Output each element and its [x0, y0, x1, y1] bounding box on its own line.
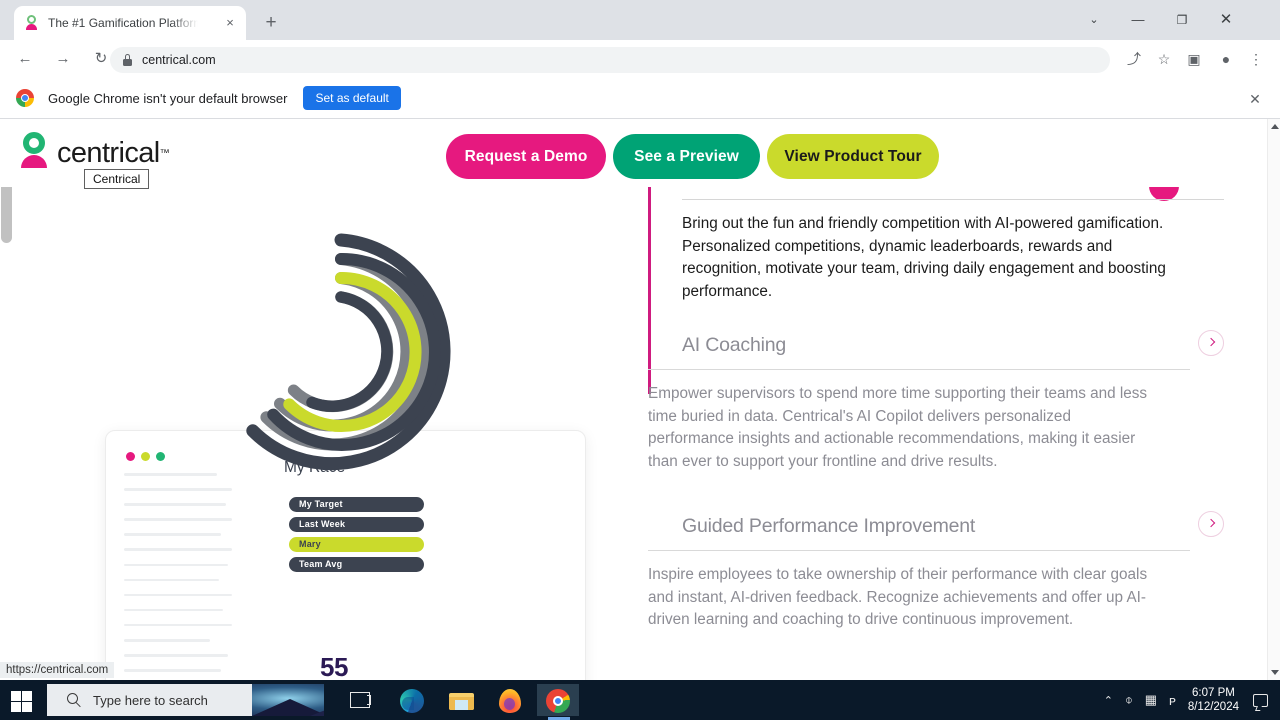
legend-item-mary: Mary: [289, 537, 424, 552]
infobar-close-icon[interactable]: ✕: [1246, 90, 1264, 108]
taskbar-search-input[interactable]: Type here to search: [47, 684, 324, 716]
accordion-text: Inspire employees to take ownership of t…: [648, 564, 1160, 632]
system-tray: ⌃ ⌽ ▦ ᴘ 6:07 PM 8/12/2024: [1100, 680, 1280, 720]
back-icon[interactable]: ←: [10, 44, 40, 74]
request-a-demo-button[interactable]: Request a Demo: [446, 134, 606, 179]
active-app-indicator: [548, 717, 570, 720]
windows-start-icon[interactable]: [10, 690, 34, 714]
window-minimize-icon[interactable]: —: [1116, 4, 1160, 36]
file-explorer-icon[interactable]: [441, 684, 481, 716]
window-close-icon[interactable]: ✕: [1204, 4, 1248, 36]
profile-avatar-icon[interactable]: ●: [1216, 49, 1236, 69]
search-icon: [67, 693, 82, 708]
clock-date: 8/12/2024: [1188, 701, 1239, 713]
infobar-message: Google Chrome isn't your default browser: [48, 91, 287, 106]
centrical-favicon-icon: [24, 15, 40, 31]
view-product-tour-button[interactable]: View Product Tour: [767, 134, 939, 179]
browser-toolbar: ← → ↻ centrical.com ⤴ ☆ ▣ ● ⋮: [0, 40, 1280, 78]
active-panel-indicator: [648, 187, 651, 394]
accordion-item-ai-coaching[interactable]: AI Coaching: [682, 334, 1224, 357]
site-header: centrical ™ Request a Demo See a Preview…: [0, 119, 1267, 187]
centrical-logo-mark-icon: [18, 131, 54, 175]
radial-progress-rings: [216, 227, 466, 477]
firefox-icon[interactable]: [490, 684, 530, 716]
logo-trademark: ™: [160, 148, 170, 159]
legend-item-last-week: Last Week: [289, 517, 424, 532]
notification-icon[interactable]: [1253, 694, 1268, 707]
see-a-preview-button[interactable]: See a Preview: [613, 134, 760, 179]
legend-item-team-avg: Team Avg: [289, 557, 424, 572]
window-dot-lime-icon: [141, 452, 150, 461]
accordion-heading: Guided Performance Improvement: [682, 515, 975, 537]
window-dot-pink-icon: [126, 452, 135, 461]
windows-taskbar: Type here to search ⌃ ⌽ ▦ ᴘ 6:07 PM 8/12…: [0, 680, 1280, 720]
task-view-icon[interactable]: [340, 684, 380, 716]
window-dot-green-icon: [156, 452, 165, 461]
page-scrollbar[interactable]: [1267, 119, 1280, 680]
tab-title: The #1 Gamification Platform fo: [48, 16, 198, 30]
accordion-item-guided-performance-improvement[interactable]: Guided Performance Improvement: [682, 515, 1224, 538]
accordion-heading: AI Coaching: [682, 334, 786, 356]
divider: [682, 199, 1224, 200]
browser-tab[interactable]: The #1 Gamification Platform fo ×: [14, 6, 246, 40]
accordion-text: Empower supervisors to spend more time s…: [648, 383, 1160, 473]
clock-time: 6:07 PM: [1192, 687, 1235, 699]
tray-chevron-up-icon[interactable]: ⌃: [1104, 694, 1113, 707]
default-browser-infobar: Google Chrome isn't your default browser…: [0, 78, 1280, 119]
search-placeholder: Type here to search: [93, 693, 208, 708]
divider: [648, 550, 1190, 551]
link-status-bubble: https://centrical.com: [0, 662, 114, 678]
points-value: 55: [320, 652, 348, 680]
url-text: centrical.com: [142, 53, 216, 67]
scroll-up-arrow-icon[interactable]: [1271, 124, 1279, 129]
chrome-menu-icon[interactable]: ⋮: [1246, 49, 1266, 69]
product-illustration: My Race My Target Last Week Mary Team Av…: [0, 187, 648, 680]
window-expand-icon[interactable]: ⌄: [1072, 4, 1116, 36]
divider: [648, 369, 1190, 370]
race-legend: My Target Last Week Mary Team Avg: [289, 497, 424, 577]
chevron-right-icon[interactable]: [1198, 511, 1224, 537]
legend-item-my-target: My Target: [289, 497, 424, 512]
edge-icon[interactable]: [392, 684, 432, 716]
taskbar-clock[interactable]: 6:07 PM 8/12/2024: [1188, 686, 1239, 714]
scroll-down-arrow-icon[interactable]: [1271, 670, 1279, 675]
share-icon[interactable]: ⤴: [1124, 49, 1144, 69]
set-as-default-button[interactable]: Set as default: [303, 86, 400, 110]
new-tab-button[interactable]: +: [258, 10, 284, 36]
tab-close-icon[interactable]: ×: [222, 15, 238, 31]
chrome-icon[interactable]: [537, 684, 579, 716]
forward-icon[interactable]: →: [48, 44, 78, 74]
lock-icon: [122, 54, 133, 66]
chevron-right-icon[interactable]: [1198, 330, 1224, 356]
page-viewport: centrical ™ Request a Demo See a Preview…: [0, 119, 1280, 680]
open-panel-text: Bring out the fun and friendly competiti…: [682, 213, 1194, 303]
logo-text: centrical: [57, 137, 160, 170]
chrome-logo-icon: [16, 89, 34, 107]
address-bar[interactable]: centrical.com: [110, 47, 1110, 73]
search-highlight-thumbnail: [252, 684, 324, 716]
logo-tooltip: Centrical: [84, 169, 149, 189]
browser-window: The #1 Gamification Platform fo × + ⌄ — …: [0, 0, 1280, 680]
side-panel-icon[interactable]: ▣: [1184, 49, 1204, 69]
features-accordion: Bring out the fun and friendly competiti…: [648, 187, 1267, 680]
window-maximize-icon[interactable]: ❐: [1160, 4, 1204, 36]
network-icon[interactable]: ▦: [1145, 692, 1157, 708]
skeleton-placeholder-lines: [124, 473, 232, 680]
volume-icon[interactable]: ᴘ: [1169, 693, 1176, 708]
bookmark-star-icon[interactable]: ☆: [1154, 49, 1174, 69]
tab-strip: The #1 Gamification Platform fo × + ⌄ — …: [0, 0, 1280, 40]
onedrive-icon[interactable]: ⌽: [1125, 692, 1133, 708]
